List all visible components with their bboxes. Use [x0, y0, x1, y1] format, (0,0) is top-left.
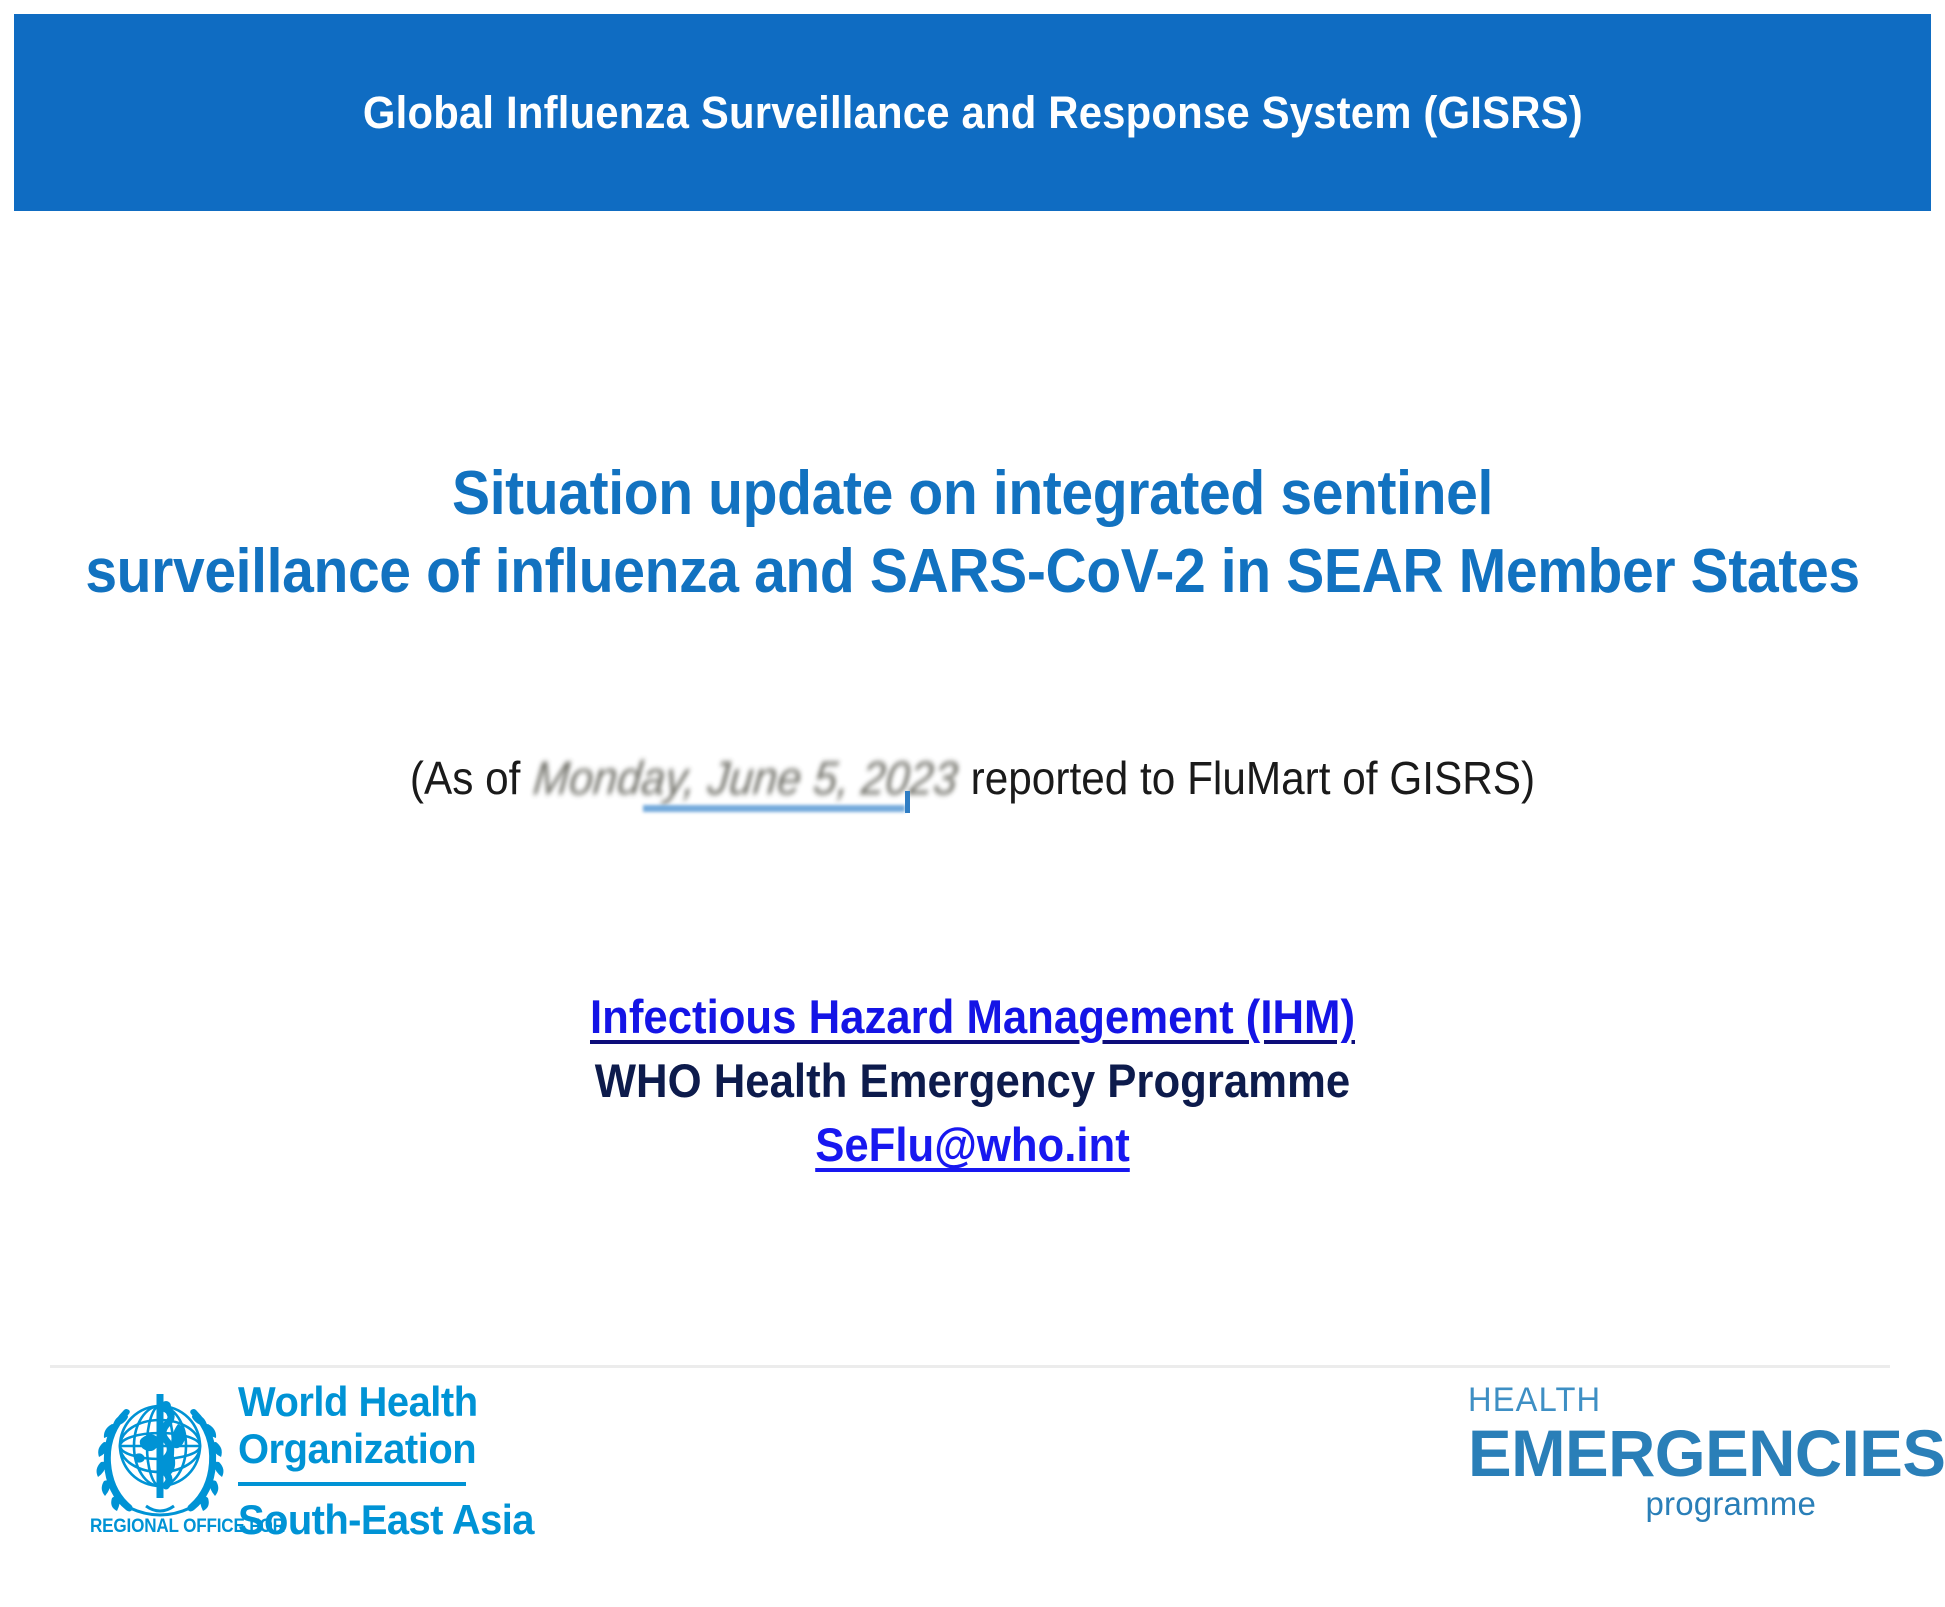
- subtitle-as-of: (As of Monday, June 5, 2023 reported to …: [78, 750, 1867, 806]
- contact-email-link[interactable]: SeFlu@who.int: [68, 1113, 1877, 1177]
- who-emblem-icon: [90, 1380, 230, 1525]
- who-region-name: South-East Asia: [238, 1496, 534, 1544]
- subtitle-date-redacted: Monday, June 5, 2023: [525, 749, 966, 806]
- subtitle-date-caret: [905, 791, 910, 813]
- page-title-line-2: surveillance of influenza and SARS-CoV-2…: [78, 533, 1867, 611]
- who-wordmark-line-2: Organization: [238, 1425, 476, 1472]
- contact-programme-label: WHO Health Emergency Programme: [68, 1049, 1877, 1113]
- who-logo-rule: [238, 1482, 466, 1486]
- page-title-line-1: Situation update on integrated sentinel: [78, 455, 1867, 533]
- he-logo-line-health: HEALTH: [1468, 1383, 1852, 1417]
- header-banner: Global Influenza Surveillance and Respon…: [14, 14, 1931, 211]
- contact-unit-link[interactable]: Infectious Hazard Management (IHM): [68, 985, 1877, 1049]
- subtitle-suffix: reported to FluMart of GISRS): [959, 752, 1535, 804]
- header-title: Global Influenza Surveillance and Respon…: [363, 87, 1583, 139]
- health-emergencies-programme-logo: HEALTH EMERGENCIES programme: [1468, 1383, 1868, 1543]
- subtitle-prefix: (As of: [410, 752, 532, 804]
- he-logo-line-programme: programme: [1468, 1487, 1816, 1520]
- contact-block: Infectious Hazard Management (IHM) WHO H…: [0, 985, 1945, 1177]
- who-wordmark-line-1: World Health: [238, 1378, 476, 1425]
- he-logo-line-emergencies: EMERGENCIES: [1468, 1421, 1864, 1485]
- who-regional-office-logo: World Health Organization REGIONAL OFFIC…: [90, 1378, 490, 1563]
- page-title: Situation update on integrated sentinel …: [0, 455, 1945, 611]
- subtitle-date-underline: [643, 805, 905, 812]
- who-wordmark: World Health Organization: [238, 1378, 488, 1472]
- footer-divider: [50, 1365, 1890, 1368]
